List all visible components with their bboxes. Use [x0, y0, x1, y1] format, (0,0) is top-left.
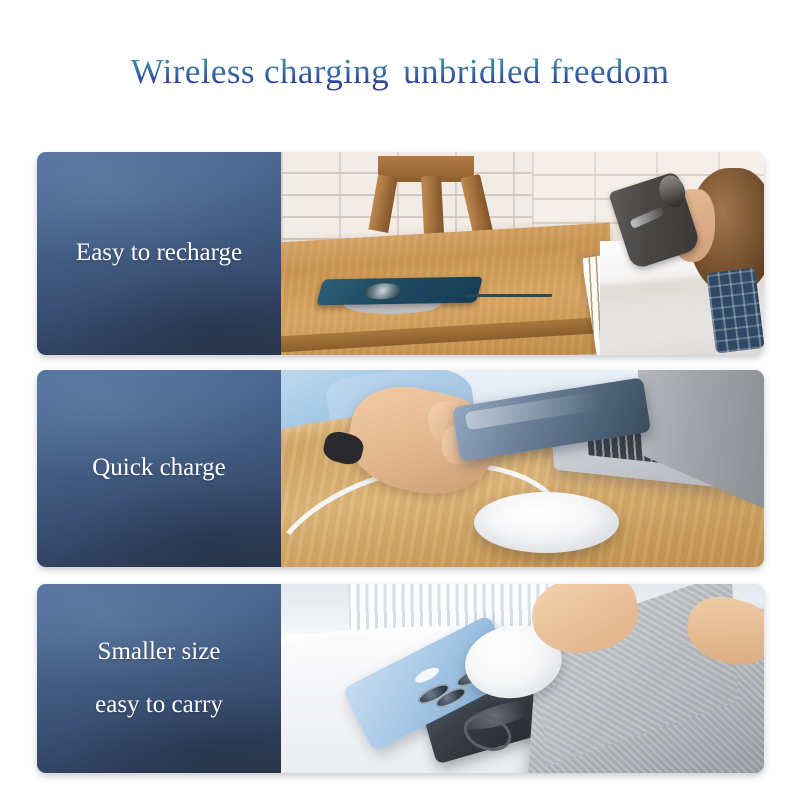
white-wireless-charging-pad: [474, 492, 619, 553]
caption-text-smaller-size: Smaller size easy to carry: [85, 639, 233, 718]
smartphone-on-charger: [316, 276, 483, 305]
page-title: Wireless chargingunbridled freedom: [0, 52, 800, 92]
caption-pane-quick-charge: Quick charge: [37, 370, 281, 567]
page-title-part-1: Wireless charging: [131, 52, 389, 91]
photo-smaller-size: [281, 584, 764, 773]
person-with-mug-region: [600, 152, 764, 355]
plaid-shirt: [707, 267, 764, 354]
caption-line: Smaller size: [95, 639, 223, 665]
caption-text-easy-to-recharge: Easy to recharge: [66, 240, 252, 266]
feature-row-quick-charge: Quick charge: [37, 370, 764, 567]
charging-cable: [464, 294, 552, 297]
caption-line: easy to carry: [95, 692, 223, 718]
feature-row-smaller-size: Smaller size easy to carry: [37, 584, 764, 773]
caption-text-quick-charge: Quick charge: [82, 455, 236, 481]
caption-line: Quick charge: [92, 455, 226, 481]
caption-pane-easy-to-recharge: Easy to recharge: [37, 152, 281, 355]
photo-easy-to-recharge: [281, 152, 764, 355]
page-title-part-2: unbridled freedom: [403, 52, 669, 91]
apple-logo: [413, 665, 441, 686]
feature-row-easy-to-recharge: Easy to recharge: [37, 152, 764, 355]
photo-quick-charge: [281, 370, 764, 567]
caption-line: Easy to recharge: [76, 240, 242, 266]
caption-pane-smaller-size: Smaller size easy to carry: [37, 584, 281, 773]
